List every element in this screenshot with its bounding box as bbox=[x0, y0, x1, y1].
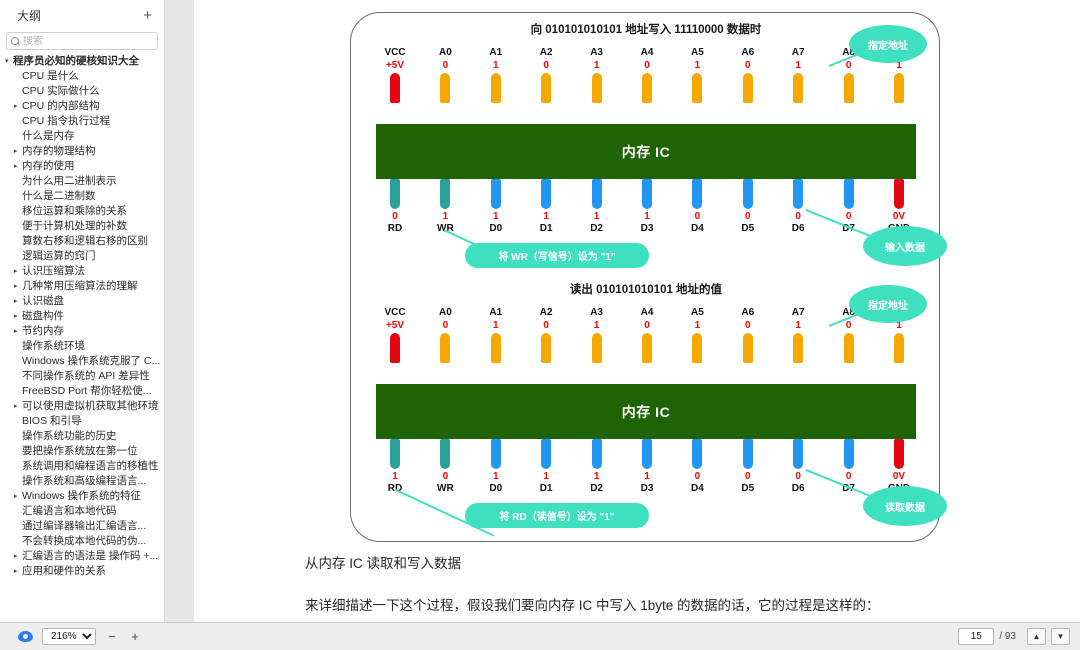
bottom-pin-d1: 1D1 bbox=[524, 439, 568, 495]
bottom-pin-wr: 0WR bbox=[423, 439, 467, 495]
pin-name: A4 bbox=[625, 307, 669, 319]
outline-item-label: 不同操作系统的 API 差异性 bbox=[22, 369, 150, 384]
outline-item-label: 可以使用虚拟机获取其他环境 bbox=[22, 399, 159, 414]
chevron-right-icon[interactable]: ▸ bbox=[14, 144, 22, 159]
pin-stub bbox=[793, 179, 803, 209]
outline-item[interactable]: ▸节约内存 bbox=[0, 324, 164, 339]
top-pin-a6: A60 bbox=[726, 47, 770, 103]
callout-specify-address: 指定地址 bbox=[849, 285, 927, 323]
pin-name: A0 bbox=[423, 307, 467, 319]
pdf-page: 向 010101010101 地址写入 11110000 数据时内存 ICVCC… bbox=[194, 0, 1080, 622]
outline-item[interactable]: ▸认识磁盘 bbox=[0, 294, 164, 309]
outline-item[interactable]: ▸内存的使用 bbox=[0, 159, 164, 174]
outline-item-label: 什么是二进制数 bbox=[22, 189, 96, 204]
zoom-level-select[interactable]: 50%75%100%125%150%216%300% bbox=[42, 628, 96, 645]
diagram-read: 读出 010101010101 地址的值内存 ICVCC+5VA00A11A20… bbox=[351, 281, 941, 536]
pin-value: 1 bbox=[474, 319, 518, 332]
pin-value: 0V bbox=[877, 210, 921, 223]
outline-item-label: CPU 的内部结构 bbox=[22, 99, 100, 114]
next-page-button[interactable]: ▼ bbox=[1051, 628, 1070, 645]
pin-stub bbox=[743, 73, 753, 103]
page-gutter bbox=[165, 0, 194, 622]
pin-value: +5V bbox=[373, 319, 417, 332]
pin-stub bbox=[894, 333, 904, 363]
pin-value: 1 bbox=[575, 470, 619, 483]
add-outline-button[interactable]: + bbox=[143, 8, 152, 23]
pin-stub bbox=[793, 439, 803, 469]
callout-data: 读取数据 bbox=[863, 486, 947, 526]
callout-signal: 将 WR（写信号）设为 "1" bbox=[465, 243, 649, 268]
bottom-pin-wr: 1WR bbox=[423, 179, 467, 235]
eye-pupil bbox=[23, 634, 28, 639]
outline-item-label: 通过编译器输出汇编语言... bbox=[22, 519, 146, 534]
pin-name: D3 bbox=[625, 223, 669, 235]
figure-frame: 向 010101010101 地址写入 11110000 数据时内存 ICVCC… bbox=[350, 12, 940, 542]
outline-item[interactable]: 什么是二进制数 bbox=[0, 189, 164, 204]
search-input[interactable] bbox=[23, 36, 153, 47]
outline-item-label: 节约内存 bbox=[22, 324, 64, 339]
callout-data: 输入数据 bbox=[863, 226, 947, 266]
pin-value: 0 bbox=[625, 319, 669, 332]
pin-name: A7 bbox=[776, 47, 820, 59]
bottom-pin-d3: 1D3 bbox=[625, 179, 669, 235]
bottom-pin-d1: 1D1 bbox=[524, 179, 568, 235]
outline-item-label: 几种常用压缩算法的理解 bbox=[22, 279, 138, 294]
pin-stub bbox=[390, 333, 400, 363]
pin-value: 1 bbox=[474, 470, 518, 483]
outline-item[interactable]: ▸认识压缩算法 bbox=[0, 264, 164, 279]
pin-name: A3 bbox=[575, 47, 619, 59]
outline-item-label: 为什么用二进制表示 bbox=[22, 174, 117, 189]
top-pin-a4: A40 bbox=[625, 47, 669, 103]
outline-item-label: 磁盘构件 bbox=[22, 309, 64, 324]
pin-value: 1 bbox=[675, 319, 719, 332]
outline-item-label: CPU 是什么 bbox=[22, 69, 79, 84]
pin-value: 1 bbox=[575, 59, 619, 72]
top-pin-a0: A00 bbox=[423, 47, 467, 103]
pin-value: 1 bbox=[575, 210, 619, 223]
chevron-right-icon[interactable]: ▸ bbox=[14, 489, 22, 504]
pin-stub bbox=[894, 73, 904, 103]
outline-item-label: FreeBSD Port 帮你轻松使... bbox=[22, 384, 152, 399]
chevron-right-icon[interactable]: ▸ bbox=[14, 309, 22, 324]
pin-stub bbox=[743, 333, 753, 363]
body-paragraph: 来详细描述一下这个过程，假设我们要向内存 IC 中写入 1byte 的数据的话，… bbox=[305, 596, 880, 616]
top-pin-a6: A60 bbox=[726, 307, 770, 363]
outline-item-label: Windows 操作系统的特征 bbox=[22, 489, 141, 504]
callout-signal: 将 RD（读信号）设为 "1" bbox=[465, 503, 649, 528]
pin-name: A5 bbox=[675, 47, 719, 59]
pin-name: D0 bbox=[474, 483, 518, 495]
pin-stub bbox=[743, 179, 753, 209]
outline-item[interactable]: 系统调用和编程语言的移植性 bbox=[0, 459, 164, 474]
eye-icon[interactable] bbox=[18, 631, 33, 642]
outline-item-label: CPU 指令执行过程 bbox=[22, 114, 110, 129]
outline-item[interactable]: 为什么用二进制表示 bbox=[0, 174, 164, 189]
top-pin-a3: A31 bbox=[575, 47, 619, 103]
top-pin-a1: A11 bbox=[474, 307, 518, 363]
outline-item-label: 逻辑运算的窍门 bbox=[22, 249, 96, 264]
pin-stub bbox=[592, 333, 602, 363]
pin-name: WR bbox=[423, 483, 467, 495]
pin-value: 0 bbox=[827, 319, 871, 332]
bottom-pin-d0: 1D0 bbox=[474, 179, 518, 235]
pin-stub bbox=[692, 439, 702, 469]
pin-name: A0 bbox=[423, 47, 467, 59]
top-pin-vcc: VCC+5V bbox=[373, 307, 417, 363]
chevron-right-icon[interactable]: ▸ bbox=[14, 279, 22, 294]
pin-stub bbox=[592, 179, 602, 209]
pin-name: D2 bbox=[575, 223, 619, 235]
pin-stub bbox=[491, 439, 501, 469]
outline-item-label: 要把操作系统放在第一位 bbox=[22, 444, 138, 459]
pin-name: A6 bbox=[726, 307, 770, 319]
pin-stub bbox=[440, 439, 450, 469]
pin-value: 0 bbox=[423, 319, 467, 332]
outline-item-label: CPU 实际做什么 bbox=[22, 84, 100, 99]
pin-stub bbox=[692, 179, 702, 209]
pin-name: D5 bbox=[726, 223, 770, 235]
outline-item-label: 内存的物理结构 bbox=[22, 144, 96, 159]
outline-item[interactable]: 逻辑运算的窍门 bbox=[0, 249, 164, 264]
pin-stub bbox=[491, 73, 501, 103]
pin-name: A1 bbox=[474, 47, 518, 59]
outline-item[interactable]: ▸内存的物理结构 bbox=[0, 144, 164, 159]
pin-value: 0 bbox=[726, 59, 770, 72]
top-pin-a3: A31 bbox=[575, 307, 619, 363]
outline-item[interactable]: 操作系统和高级编程语言... bbox=[0, 474, 164, 489]
pin-name: D4 bbox=[675, 483, 719, 495]
pin-value: 0 bbox=[423, 470, 467, 483]
outline-item-label: 系统调用和编程语言的移植性 bbox=[22, 459, 159, 474]
top-pin-a2: A20 bbox=[524, 47, 568, 103]
pin-name: A5 bbox=[675, 307, 719, 319]
outline-item[interactable]: 算数右移和逻辑右移的区别 bbox=[0, 234, 164, 249]
pin-name: A2 bbox=[524, 307, 568, 319]
bottom-pin-d2: 1D2 bbox=[575, 439, 619, 495]
outline-item-label: Windows 操作系统克服了 C... bbox=[22, 354, 160, 369]
pin-stub bbox=[844, 439, 854, 469]
outline-item[interactable]: ▸CPU 的内部结构 bbox=[0, 99, 164, 114]
pin-name: D2 bbox=[575, 483, 619, 495]
outline-item-label: 应用和硬件的关系 bbox=[22, 564, 106, 579]
pin-value: 0 bbox=[726, 319, 770, 332]
outline-item[interactable]: 不会转换成本地代码的伪... bbox=[0, 534, 164, 549]
pin-name: D3 bbox=[625, 483, 669, 495]
outline-item[interactable]: CPU 指令执行过程 bbox=[0, 114, 164, 129]
pin-value: 0 bbox=[423, 59, 467, 72]
pin-name: A6 bbox=[726, 47, 770, 59]
outline-item-label: 操作系统和高级编程语言... bbox=[22, 474, 146, 489]
outline-item-label: 汇编语言和本地代码 bbox=[22, 504, 117, 519]
pin-value: 0 bbox=[675, 210, 719, 223]
pin-stub bbox=[491, 333, 501, 363]
pin-name: VCC bbox=[373, 47, 417, 59]
outline-item[interactable]: CPU 是什么 bbox=[0, 69, 164, 84]
pin-name: D0 bbox=[474, 223, 518, 235]
pin-stub bbox=[692, 73, 702, 103]
sidebar-title: 大纲 bbox=[17, 7, 41, 24]
memory-ic-label: 内存 IC bbox=[622, 142, 670, 162]
pin-value: 0 bbox=[726, 210, 770, 223]
outline-item[interactable]: BIOS 和引导 bbox=[0, 414, 164, 429]
pin-value: 1 bbox=[776, 319, 820, 332]
bottom-pin-d5: 0D5 bbox=[726, 179, 770, 235]
pin-name: A1 bbox=[474, 307, 518, 319]
pin-value: 1 bbox=[524, 470, 568, 483]
bottom-pin-d6: 0D6 bbox=[776, 439, 820, 495]
app-root: 大纲 + ▾程序员必知的硬核知识大全CPU 是什么CPU 实际做什么▸CPU 的… bbox=[0, 0, 1080, 650]
page-total-label: / 93 bbox=[999, 631, 1016, 642]
memory-ic-label: 内存 IC bbox=[622, 402, 670, 422]
pin-stub bbox=[642, 73, 652, 103]
pin-value: 1 bbox=[776, 59, 820, 72]
pin-name: D4 bbox=[675, 223, 719, 235]
pin-stub bbox=[592, 73, 602, 103]
outline-item-label: 认识磁盘 bbox=[22, 294, 64, 309]
pin-name: D5 bbox=[726, 483, 770, 495]
top-pin-a5: A51 bbox=[675, 47, 719, 103]
pin-name: A3 bbox=[575, 307, 619, 319]
chevron-right-icon[interactable]: ▸ bbox=[14, 264, 22, 279]
outline-item-label: 便于计算机处理的补数 bbox=[22, 219, 127, 234]
outline-item-label: 程序员必知的硬核知识大全 bbox=[13, 54, 139, 69]
bottom-toolbar: 50%75%100%125%150%216%300% − + / 93 ▲ ▼ bbox=[0, 622, 1080, 650]
memory-ic-body: 内存 IC bbox=[376, 384, 916, 439]
bottom-pin-rd: 1RD bbox=[373, 439, 417, 495]
outline-item-label: 认识压缩算法 bbox=[22, 264, 85, 279]
pin-name: VCC bbox=[373, 307, 417, 319]
pin-value: 1 bbox=[474, 210, 518, 223]
outline-item[interactable]: ▸可以使用虚拟机获取其他环境 bbox=[0, 399, 164, 414]
top-pin-a5: A51 bbox=[675, 307, 719, 363]
outline-item[interactable]: ▸磁盘构件 bbox=[0, 309, 164, 324]
pin-stub bbox=[440, 333, 450, 363]
chevron-right-icon[interactable]: ▸ bbox=[14, 564, 22, 579]
callout-specify-address: 指定地址 bbox=[849, 25, 927, 63]
outline-item-label: 操作系统功能的历史 bbox=[22, 429, 117, 444]
outline-list: ▾程序员必知的硬核知识大全CPU 是什么CPU 实际做什么▸CPU 的内部结构C… bbox=[0, 53, 164, 579]
pin-value: 0 bbox=[524, 319, 568, 332]
pin-stub bbox=[541, 439, 551, 469]
pin-value: 0 bbox=[625, 59, 669, 72]
pin-stub bbox=[440, 179, 450, 209]
pin-stub bbox=[844, 73, 854, 103]
pin-name: D6 bbox=[776, 223, 820, 235]
pin-name: RD bbox=[373, 223, 417, 235]
bottom-pin-d6: 0D6 bbox=[776, 179, 820, 235]
pin-stub bbox=[793, 333, 803, 363]
pin-value: 0 bbox=[675, 470, 719, 483]
pin-value: +5V bbox=[373, 59, 417, 72]
pin-value: 1 bbox=[373, 470, 417, 483]
outline-item[interactable]: FreeBSD Port 帮你轻松使... bbox=[0, 384, 164, 399]
diagram-write: 向 010101010101 地址写入 11110000 数据时内存 ICVCC… bbox=[351, 21, 941, 276]
pin-name: D1 bbox=[524, 223, 568, 235]
outline-item[interactable]: 不同操作系统的 API 差异性 bbox=[0, 369, 164, 384]
bottom-pin-d4: 0D4 bbox=[675, 179, 719, 235]
top-pin-a7: A71 bbox=[776, 47, 820, 103]
chevron-right-icon[interactable]: ▸ bbox=[14, 99, 22, 114]
search-icon bbox=[11, 37, 20, 46]
top-pin-a7: A71 bbox=[776, 307, 820, 363]
outline-item[interactable]: ▾程序员必知的硬核知识大全 bbox=[0, 54, 164, 69]
chevron-right-icon[interactable]: ▸ bbox=[14, 324, 22, 339]
pin-name: A2 bbox=[524, 47, 568, 59]
outline-item[interactable]: ▸汇编语言的语法是 操作码 +... bbox=[0, 549, 164, 564]
outline-item[interactable]: 什么是内存 bbox=[0, 129, 164, 144]
outline-item[interactable]: ▸几种常用压缩算法的理解 bbox=[0, 279, 164, 294]
pin-stub bbox=[390, 73, 400, 103]
pin-value: 1 bbox=[625, 210, 669, 223]
top-pin-a4: A40 bbox=[625, 307, 669, 363]
outline-sidebar: 大纲 + ▾程序员必知的硬核知识大全CPU 是什么CPU 实际做什么▸CPU 的… bbox=[0, 0, 165, 622]
outline-item[interactable]: 移位运算和乘除的关系 bbox=[0, 204, 164, 219]
outline-item[interactable]: ▸应用和硬件的关系 bbox=[0, 564, 164, 579]
outline-item[interactable]: 通过编译器输出汇编语言... bbox=[0, 519, 164, 534]
outline-item-label: BIOS 和引导 bbox=[22, 414, 82, 429]
pin-value: 1 bbox=[524, 210, 568, 223]
toolbar-right-group: / 93 ▲ ▼ bbox=[958, 628, 1070, 645]
outline-item[interactable]: 汇编语言和本地代码 bbox=[0, 504, 164, 519]
outline-item[interactable]: Windows 操作系统克服了 C... bbox=[0, 354, 164, 369]
sidebar-header: 大纲 + bbox=[0, 0, 164, 30]
top-pin-a0: A00 bbox=[423, 307, 467, 363]
outline-item-label: 什么是内存 bbox=[22, 129, 75, 144]
prev-page-button[interactable]: ▲ bbox=[1027, 628, 1046, 645]
chevron-right-icon[interactable]: ▸ bbox=[14, 294, 22, 309]
pin-value: 0 bbox=[524, 59, 568, 72]
pin-name: D6 bbox=[776, 483, 820, 495]
pin-stub bbox=[844, 179, 854, 209]
page-number-input[interactable] bbox=[958, 628, 994, 645]
pin-stub bbox=[844, 333, 854, 363]
pin-value: 1 bbox=[625, 470, 669, 483]
pin-name: D1 bbox=[524, 483, 568, 495]
pin-stub bbox=[390, 179, 400, 209]
pin-name: A4 bbox=[625, 47, 669, 59]
pdf-viewer: 向 010101010101 地址写入 11110000 数据时内存 ICVCC… bbox=[165, 0, 1080, 622]
pin-stub bbox=[541, 179, 551, 209]
pin-name: A7 bbox=[776, 307, 820, 319]
pin-stub bbox=[642, 439, 652, 469]
memory-ic-body: 内存 IC bbox=[376, 124, 916, 179]
outline-search-box[interactable] bbox=[6, 32, 158, 50]
pin-value: 1 bbox=[575, 319, 619, 332]
chevron-down-icon[interactable]: ▾ bbox=[5, 54, 13, 69]
pin-stub bbox=[642, 333, 652, 363]
pin-value: 0V bbox=[877, 470, 921, 483]
zoom-out-button[interactable]: − bbox=[105, 630, 119, 644]
pin-stub bbox=[491, 179, 501, 209]
bottom-pin-d4: 0D4 bbox=[675, 439, 719, 495]
outline-item[interactable]: 要把操作系统放在第一位 bbox=[0, 444, 164, 459]
pin-stub bbox=[894, 179, 904, 209]
toolbar-left-group: 50%75%100%125%150%216%300% − + bbox=[0, 628, 142, 645]
bottom-pin-d5: 0D5 bbox=[726, 439, 770, 495]
pin-stub bbox=[592, 439, 602, 469]
pin-stub bbox=[390, 439, 400, 469]
outline-item[interactable]: 操作系统环境 bbox=[0, 339, 164, 354]
pin-stub bbox=[541, 333, 551, 363]
pin-stub bbox=[743, 439, 753, 469]
bottom-pin-d0: 1D0 bbox=[474, 439, 518, 495]
outline-item-label: 操作系统环境 bbox=[22, 339, 85, 354]
outline-item-label: 汇编语言的语法是 操作码 +... bbox=[22, 549, 158, 564]
pin-stub bbox=[692, 333, 702, 363]
outline-item-label: 算数右移和逻辑右移的区别 bbox=[22, 234, 148, 249]
outline-item-label: 移位运算和乘除的关系 bbox=[22, 204, 127, 219]
bottom-pin-d3: 1D3 bbox=[625, 439, 669, 495]
top-pin-a1: A11 bbox=[474, 47, 518, 103]
pin-stub bbox=[440, 73, 450, 103]
top-pin-a2: A20 bbox=[524, 307, 568, 363]
eye-outline bbox=[18, 631, 33, 642]
zoom-in-button[interactable]: + bbox=[128, 630, 142, 644]
pin-value: 0 bbox=[726, 470, 770, 483]
bottom-pin-d2: 1D2 bbox=[575, 179, 619, 235]
outline-item-label: 内存的使用 bbox=[22, 159, 75, 174]
chevron-right-icon[interactable]: ▸ bbox=[14, 399, 22, 414]
pin-stub bbox=[793, 73, 803, 103]
pin-value: 0 bbox=[827, 59, 871, 72]
pin-value: 1 bbox=[474, 59, 518, 72]
top-pin-vcc: VCC+5V bbox=[373, 47, 417, 103]
pin-stub bbox=[541, 73, 551, 103]
chevron-right-icon[interactable]: ▸ bbox=[14, 549, 22, 564]
outline-item[interactable]: ▸Windows 操作系统的特征 bbox=[0, 489, 164, 504]
pin-stub bbox=[894, 439, 904, 469]
section-subheading: 从内存 IC 读取和写入数据 bbox=[305, 554, 461, 574]
outline-item[interactable]: 便于计算机处理的补数 bbox=[0, 219, 164, 234]
pin-value: 1 bbox=[675, 59, 719, 72]
outline-item[interactable]: CPU 实际做什么 bbox=[0, 84, 164, 99]
pin-stub bbox=[642, 179, 652, 209]
bottom-pin-rd: 0RD bbox=[373, 179, 417, 235]
outline-item[interactable]: 操作系统功能的历史 bbox=[0, 429, 164, 444]
outline-item-label: 不会转换成本地代码的伪... bbox=[22, 534, 146, 549]
pin-value: 1 bbox=[423, 210, 467, 223]
pin-value: 0 bbox=[373, 210, 417, 223]
chevron-right-icon[interactable]: ▸ bbox=[14, 159, 22, 174]
